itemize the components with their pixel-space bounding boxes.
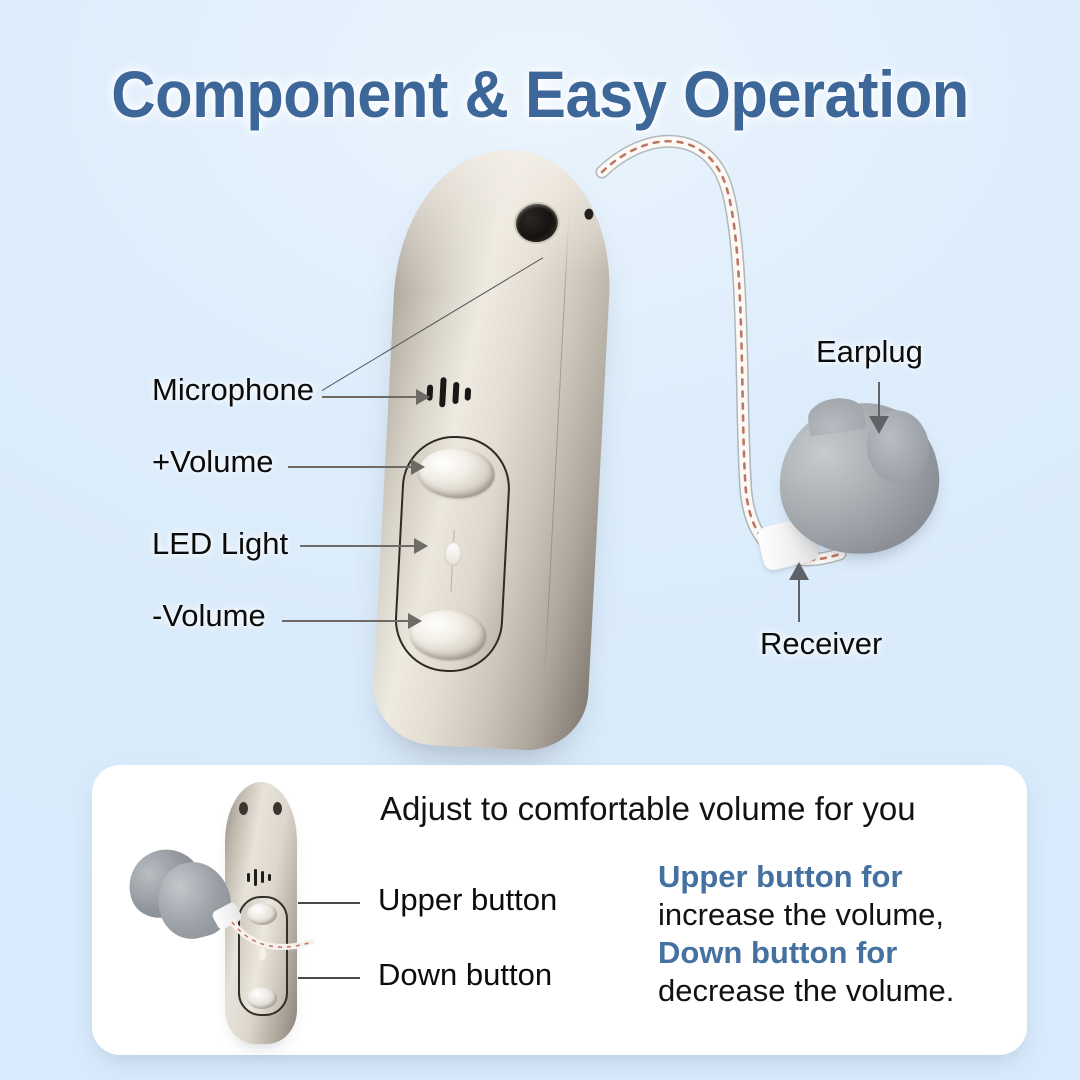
arrow-led-light: [414, 538, 428, 554]
earplug-notch: [806, 395, 866, 436]
instruction-line-4: decrease the volume.: [658, 972, 1018, 1010]
label-volume-down: -Volume: [152, 598, 266, 634]
arrow-receiver: [789, 562, 809, 580]
leader-microphone-slits: [322, 396, 422, 398]
leader-upper-button: [298, 902, 360, 904]
microphone-slits-icon: [426, 374, 476, 410]
small-microphone-slits-icon: [247, 868, 273, 886]
small-down-button[interactable]: [247, 987, 277, 1009]
small-port-left-icon: [239, 802, 248, 815]
label-upper-button: Upper button: [378, 882, 557, 918]
small-port-right-icon: [273, 802, 282, 815]
card-heading: Adjust to comfortable volume for you: [380, 790, 916, 828]
instruction-line-2: increase the volume,: [658, 896, 1018, 934]
instruction-text-block: Upper button for increase the volume, Do…: [658, 858, 1018, 1010]
instruction-line-1: Upper button for: [658, 858, 1018, 896]
leader-down-button: [298, 977, 360, 979]
infographic-canvas: Component & Easy Operation Microphone +V…: [0, 0, 1080, 1080]
hearing-aid-body: [370, 145, 616, 753]
label-earplug: Earplug: [816, 334, 923, 370]
small-receiver-wire: [228, 912, 318, 962]
page-title: Component & Easy Operation: [38, 56, 1042, 132]
label-receiver: Receiver: [760, 626, 882, 662]
leader-volume-up: [288, 466, 417, 468]
body-highlight: [392, 145, 616, 336]
pinhole-icon: [584, 208, 594, 219]
arrow-volume-up: [411, 459, 425, 475]
volume-up-button[interactable]: [417, 446, 496, 500]
arrow-earplug: [869, 416, 889, 434]
label-volume-up: +Volume: [152, 444, 274, 480]
top-microphone-port-icon: [513, 200, 561, 245]
arrow-volume-down: [408, 613, 422, 629]
led-light-indicator: [444, 542, 462, 567]
label-led-light: LED Light: [152, 526, 288, 562]
leader-receiver: [798, 578, 800, 622]
leader-volume-down: [282, 620, 414, 622]
instruction-line-3: Down button for: [658, 934, 1018, 972]
label-down-button: Down button: [378, 957, 552, 993]
leader-led-light: [300, 545, 420, 547]
arrow-microphone: [416, 389, 430, 405]
label-microphone: Microphone: [152, 372, 314, 408]
leader-earplug: [878, 382, 880, 420]
